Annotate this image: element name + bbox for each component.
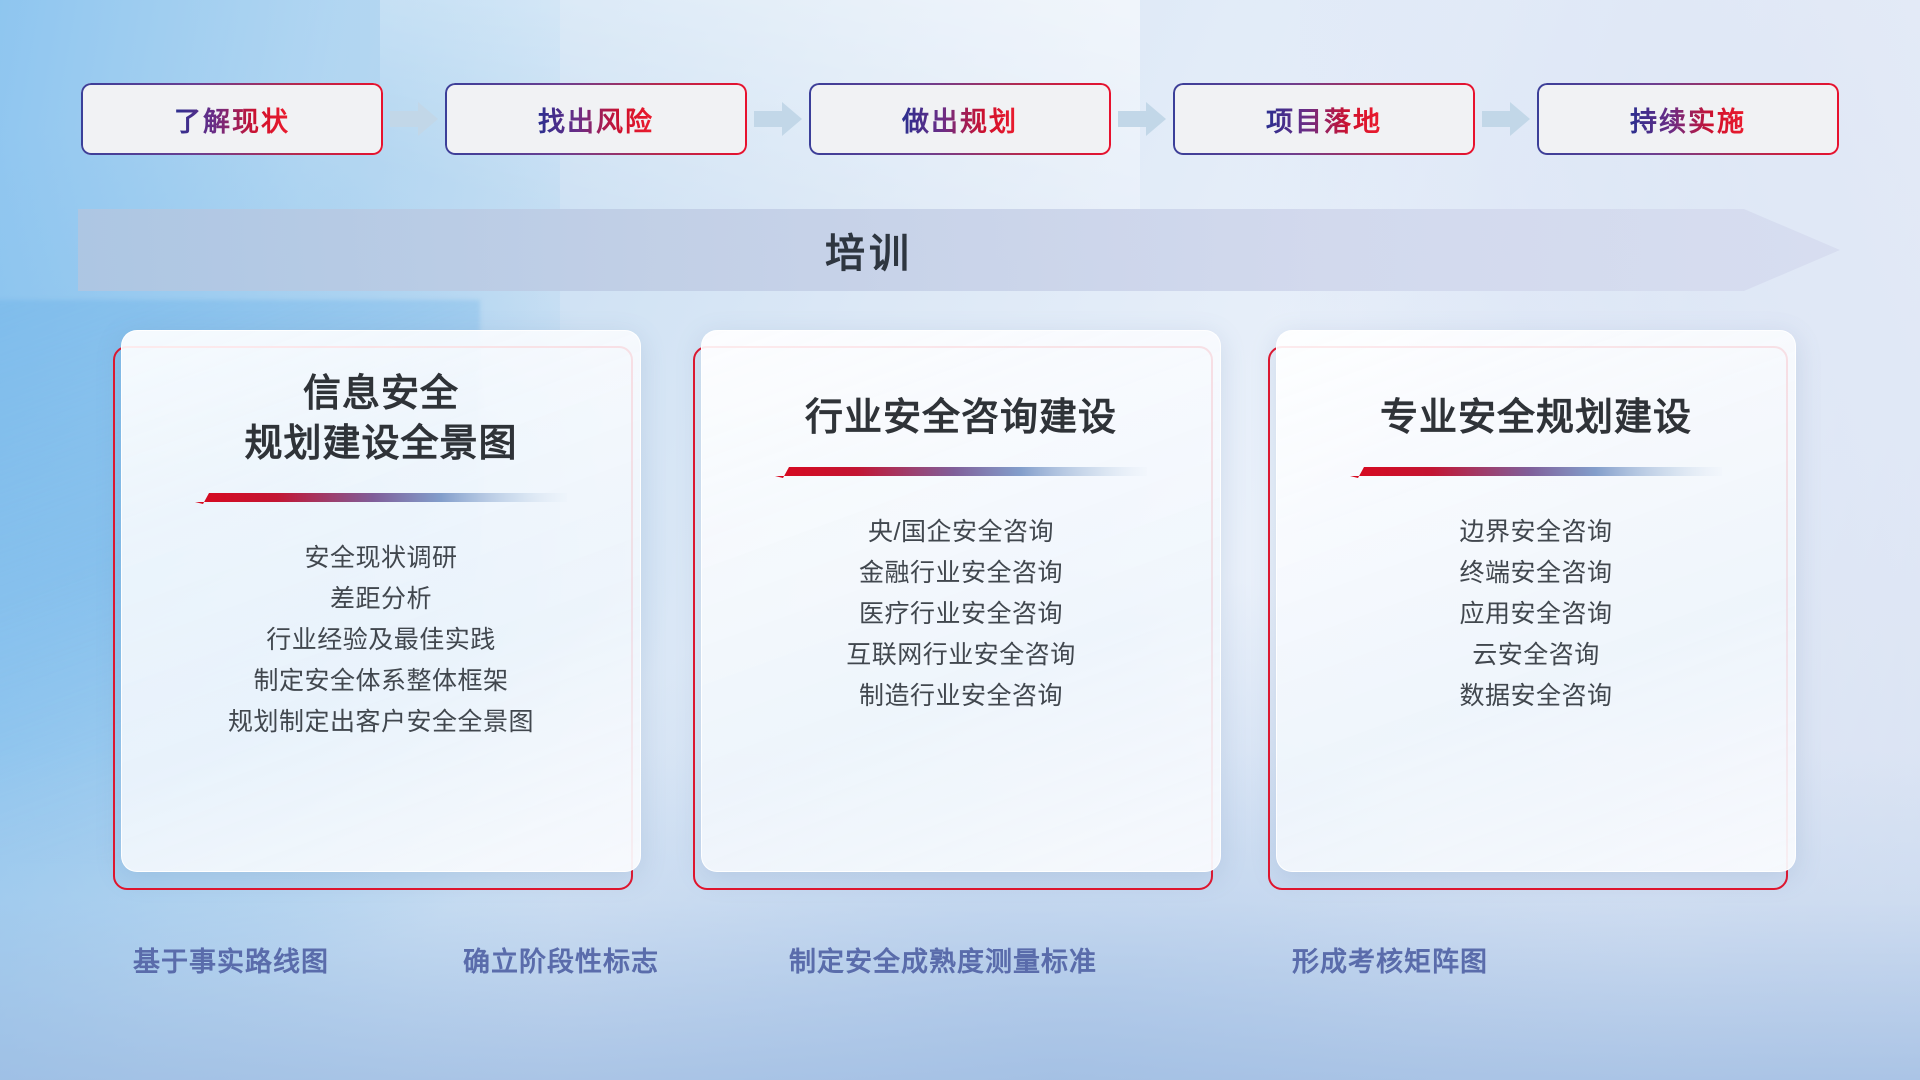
process-step-3[interactable]: 项目落地 [1173, 83, 1475, 155]
process-step-0[interactable]: 了解现状 [81, 83, 383, 155]
list-item: 云安全咨询 [1472, 635, 1600, 676]
caption-3: 形成考核矩阵图 [1292, 940, 1488, 979]
list-item: 制定安全体系整体框架 [253, 661, 508, 702]
list-item: 制造行业安全咨询 [859, 676, 1063, 717]
list-item: 医疗行业安全咨询 [859, 594, 1063, 635]
process-step-1[interactable]: 找出风险 [445, 83, 747, 155]
caption-2: 制定安全成熟度测量标准 [789, 940, 1097, 979]
arrow-right-icon [747, 83, 809, 155]
arrow-right-icon [1475, 83, 1537, 155]
process-step-label: 了解现状 [174, 100, 290, 139]
list-item: 规划制定出客户安全全景图 [228, 702, 534, 743]
card-accent-bar [775, 467, 1147, 478]
list-item: 安全现状调研 [304, 538, 457, 579]
list-item: 终端安全咨询 [1459, 553, 1612, 594]
process-step-label: 找出风险 [538, 100, 654, 139]
process-step-4[interactable]: 持续实施 [1537, 83, 1839, 155]
card-2[interactable]: 行业安全咨询建设 [693, 330, 1221, 890]
arrow-right-icon [1111, 83, 1173, 155]
card-row: 信息安全 规划建设全景图 [0, 330, 1920, 890]
card-item-list: 边界安全咨询 终端安全咨询 应用安全咨询 云安全咨询 数据安全咨询 [1277, 512, 1795, 717]
list-item: 应用安全咨询 [1459, 594, 1612, 635]
arrow-right-icon [383, 83, 445, 155]
card-accent-bar [1350, 467, 1722, 478]
card-1[interactable]: 信息安全 规划建设全景图 [113, 330, 641, 890]
card-title: 行业安全咨询建设 [702, 393, 1220, 443]
card-body[interactable]: 专业安全规划建设 [1276, 330, 1796, 872]
training-banner: 培训 [78, 209, 1840, 291]
process-step-label: 做出规划 [902, 100, 1018, 139]
list-item: 边界安全咨询 [1459, 512, 1612, 553]
card-3[interactable]: 专业安全规划建设 [1268, 330, 1796, 890]
list-item: 差距分析 [330, 579, 432, 620]
list-item: 金融行业安全咨询 [859, 553, 1063, 594]
card-body[interactable]: 信息安全 规划建设全景图 [121, 330, 641, 872]
card-title: 专业安全规划建设 [1277, 393, 1795, 443]
list-item: 央/国企安全咨询 [868, 512, 1054, 553]
card-body[interactable]: 行业安全咨询建设 [701, 330, 1221, 872]
card-accent-bar [195, 493, 567, 504]
list-item: 数据安全咨询 [1459, 676, 1612, 717]
caption-0: 基于事实路线图 [133, 940, 329, 979]
process-step-row: 了解现状 找出风险 做出规划 项目落地 持续实施 [0, 78, 1920, 160]
process-step-label: 项目落地 [1266, 100, 1382, 139]
caption-1: 确立阶段性标志 [463, 940, 659, 979]
process-step-label: 持续实施 [1630, 100, 1746, 139]
card-title: 信息安全 规划建设全景图 [122, 369, 640, 469]
card-item-list: 央/国企安全咨询 金融行业安全咨询 医疗行业安全咨询 互联网行业安全咨询 制造行… [702, 512, 1220, 717]
list-item: 行业经验及最佳实践 [266, 620, 496, 661]
banner-label: 培训 [78, 209, 1840, 291]
process-step-2[interactable]: 做出规划 [809, 83, 1111, 155]
list-item: 互联网行业安全咨询 [846, 635, 1076, 676]
caption-row: 基于事实路线图 确立阶段性标志 制定安全成熟度测量标准 形成考核矩阵图 [0, 940, 1920, 1000]
card-item-list: 安全现状调研 差距分析 行业经验及最佳实践 制定安全体系整体框架 规划制定出客户… [122, 538, 640, 743]
